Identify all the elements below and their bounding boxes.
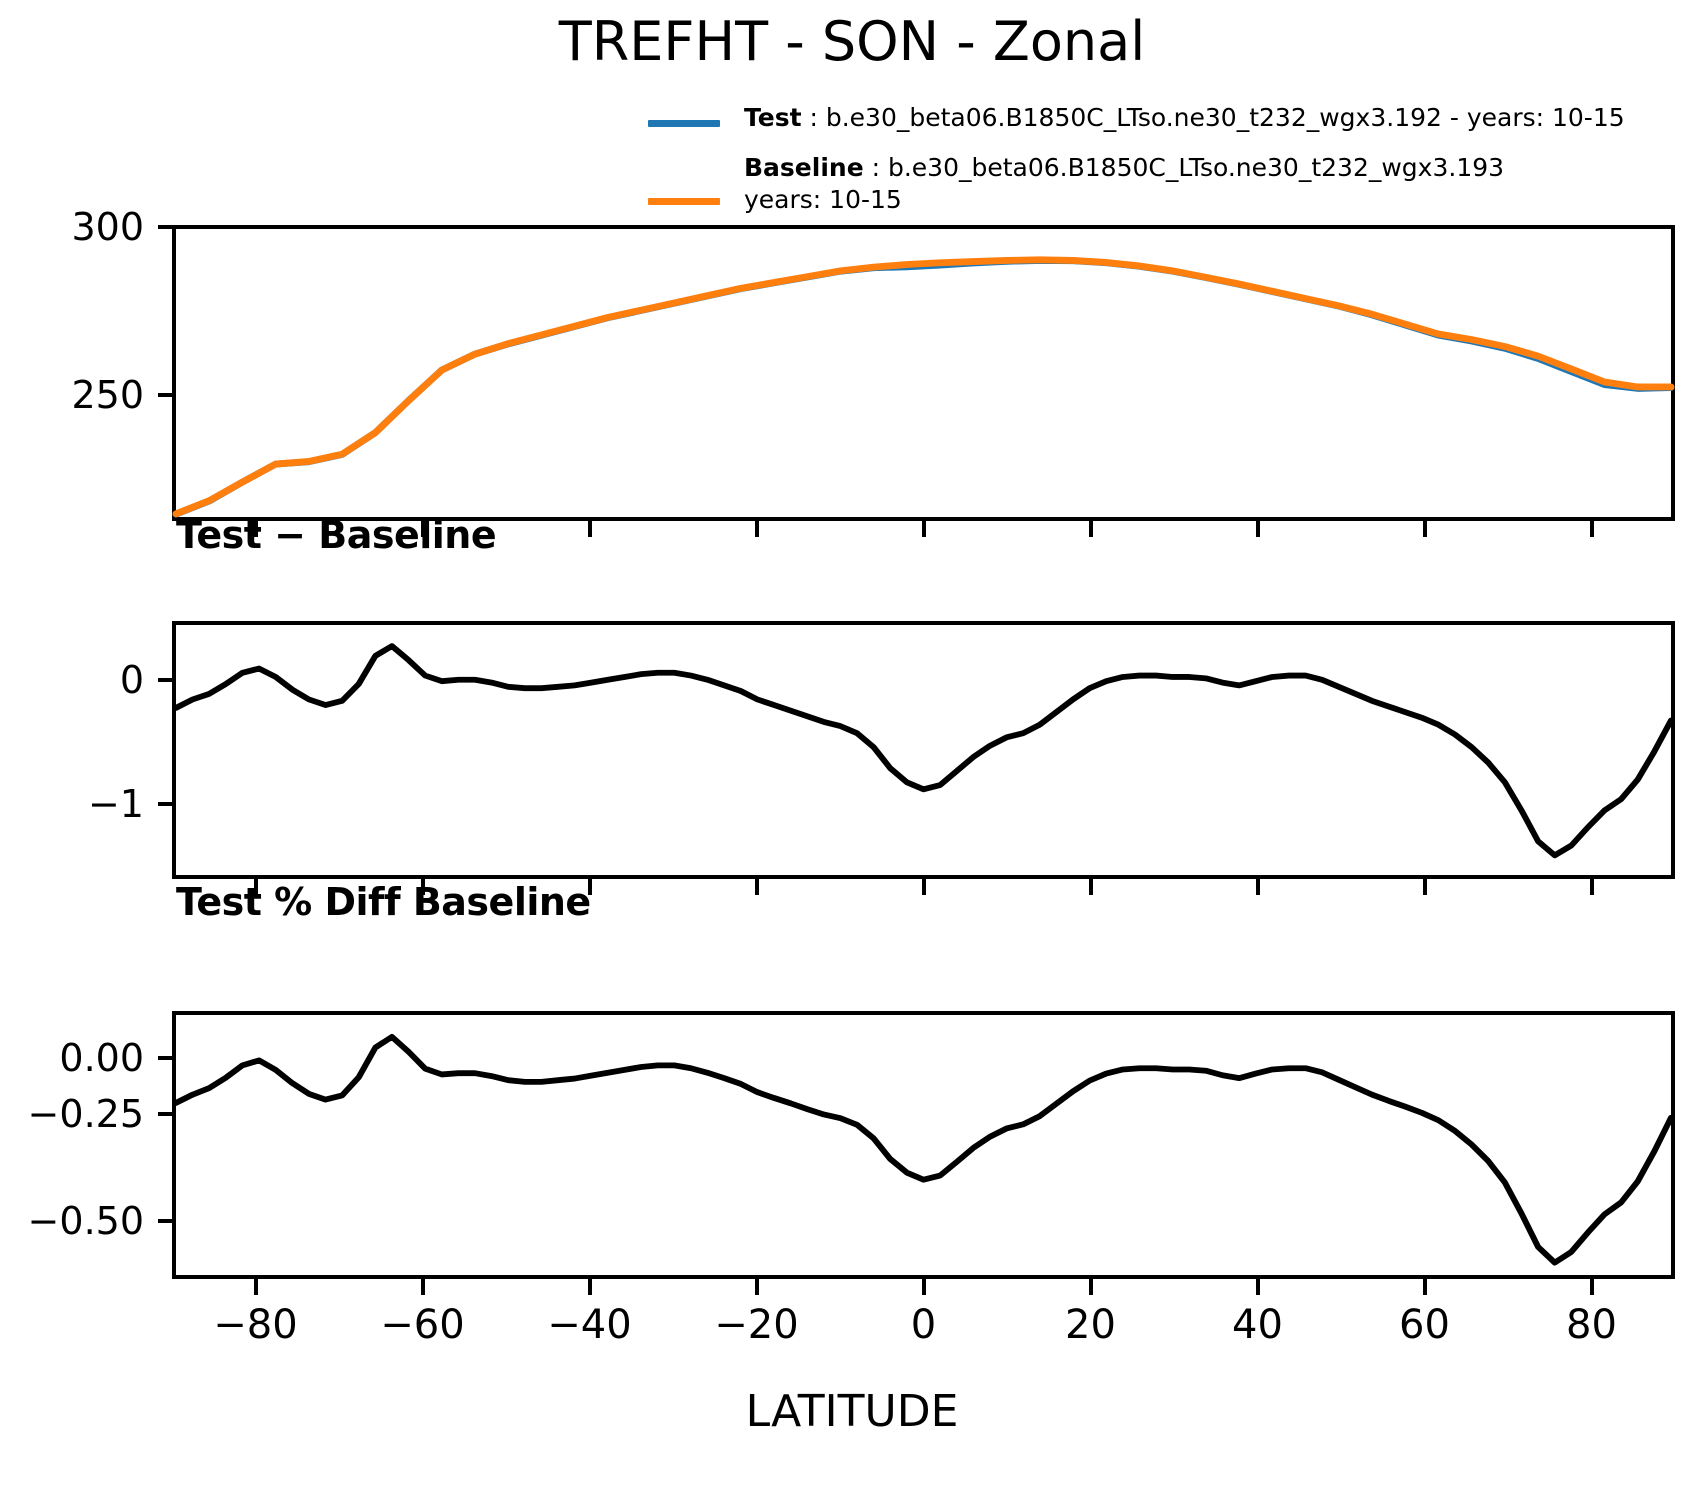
xtick-mark	[922, 879, 926, 895]
ytick-mark-p1-250	[158, 393, 174, 397]
ytick-label-p3-neg025: −0.25	[14, 1095, 144, 1133]
ytick-label-p3-neg050: −0.50	[14, 1202, 144, 1240]
percent-difference-panel-title: Test % Diff Baseline	[176, 880, 591, 924]
percent-difference-plot	[176, 1015, 1671, 1275]
xtick-mark	[1423, 1279, 1427, 1295]
legend-value-test: b.e30_beta06.B1850C_LTso.ne30_t232_wgx3.…	[826, 103, 1625, 132]
xtick-label-60: 60	[1345, 1302, 1505, 1348]
xtick-label--60: −60	[343, 1302, 503, 1348]
legend-value-baseline-line2: years: 10-15	[744, 184, 1504, 216]
legend-value-baseline: b.e30_beta06.B1850C_LTso.ne30_t232_wgx3.…	[888, 153, 1504, 182]
xtick-mark	[254, 1279, 258, 1295]
xtick-mark	[1256, 879, 1260, 895]
xtick-label--20: −20	[677, 1302, 837, 1348]
difference-plot	[176, 625, 1671, 875]
x-axis-label: LATITUDE	[0, 1386, 1704, 1437]
series-line-test	[176, 260, 1671, 514]
xtick-mark	[1423, 521, 1427, 537]
xtick-label-20: 20	[1011, 1302, 1171, 1348]
zonal-mean-panel	[172, 225, 1675, 521]
ytick-label-p3-000: 0.00	[14, 1039, 144, 1077]
xtick-mark	[588, 879, 592, 895]
zonal-mean-plot	[176, 229, 1671, 517]
ytick-label-p2-neg1: −1	[44, 785, 144, 823]
xtick-mark	[254, 879, 258, 895]
xtick-label--80: −80	[176, 1302, 336, 1348]
xtick-mark	[421, 521, 425, 537]
figure-canvas: TREFHT - SON - Zonal Test : b.e30_beta06…	[0, 0, 1704, 1496]
series-line-baseline	[176, 260, 1671, 514]
legend-row-test: Test : b.e30_beta06.B1850C_LTso.ne30_t23…	[648, 104, 1698, 156]
xtick-mark	[1590, 879, 1594, 895]
ytick-mark-p3-000	[158, 1056, 174, 1060]
xtick-mark	[755, 1279, 759, 1295]
xtick-mark	[588, 1279, 592, 1295]
xtick-mark	[1089, 879, 1093, 895]
ytick-label-p1-300: 300	[44, 208, 144, 246]
ytick-label-p2-0: 0	[44, 661, 144, 699]
xtick-mark	[254, 521, 258, 537]
difference-panel-title: Test − Baseline	[176, 513, 496, 557]
ytick-mark-p3-neg025	[158, 1112, 174, 1116]
xtick-mark	[755, 521, 759, 537]
legend-label-test: Test : b.e30_beta06.B1850C_LTso.ne30_t23…	[744, 102, 1625, 134]
xtick-mark	[922, 521, 926, 537]
xtick-label-0: 0	[844, 1302, 1004, 1348]
legend-swatch-baseline	[648, 198, 720, 205]
xtick-mark	[755, 879, 759, 895]
xtick-mark	[1423, 879, 1427, 895]
xtick-label--40: −40	[510, 1302, 670, 1348]
legend-swatch-test	[648, 120, 720, 127]
xtick-mark	[1256, 521, 1260, 537]
legend-label-baseline: Baseline : b.e30_beta06.B1850C_LTso.ne30…	[744, 152, 1504, 216]
series-line-percent-difference	[176, 1037, 1671, 1263]
ytick-label-p1-250: 250	[44, 376, 144, 414]
page-title: TREFHT - SON - Zonal	[0, 10, 1704, 73]
ytick-mark-p2-0	[158, 678, 174, 682]
xtick-mark	[1590, 1279, 1594, 1295]
xtick-mark	[588, 521, 592, 537]
xtick-mark	[1089, 1279, 1093, 1295]
xtick-mark	[1590, 521, 1594, 537]
legend-sep-test: :	[802, 103, 826, 132]
percent-difference-panel	[172, 1011, 1675, 1279]
xtick-mark	[1256, 1279, 1260, 1295]
ytick-mark-p3-neg050	[158, 1219, 174, 1223]
series-line-difference	[176, 646, 1671, 855]
xtick-mark	[421, 879, 425, 895]
ytick-mark-p1-300	[158, 225, 174, 229]
xtick-mark	[421, 1279, 425, 1295]
ytick-mark-p2-neg1	[158, 802, 174, 806]
xtick-label-40: 40	[1178, 1302, 1338, 1348]
legend-name-baseline: Baseline	[744, 153, 864, 182]
xtick-mark	[922, 1279, 926, 1295]
difference-panel	[172, 621, 1675, 879]
legend-name-test: Test	[744, 103, 802, 132]
legend-sep-baseline: :	[864, 153, 888, 182]
legend: Test : b.e30_beta06.B1850C_LTso.ne30_t23…	[648, 104, 1698, 226]
legend-row-baseline: Baseline : b.e30_beta06.B1850C_LTso.ne30…	[648, 156, 1698, 226]
xtick-mark	[1089, 521, 1093, 537]
xtick-label-80: 80	[1512, 1302, 1672, 1348]
